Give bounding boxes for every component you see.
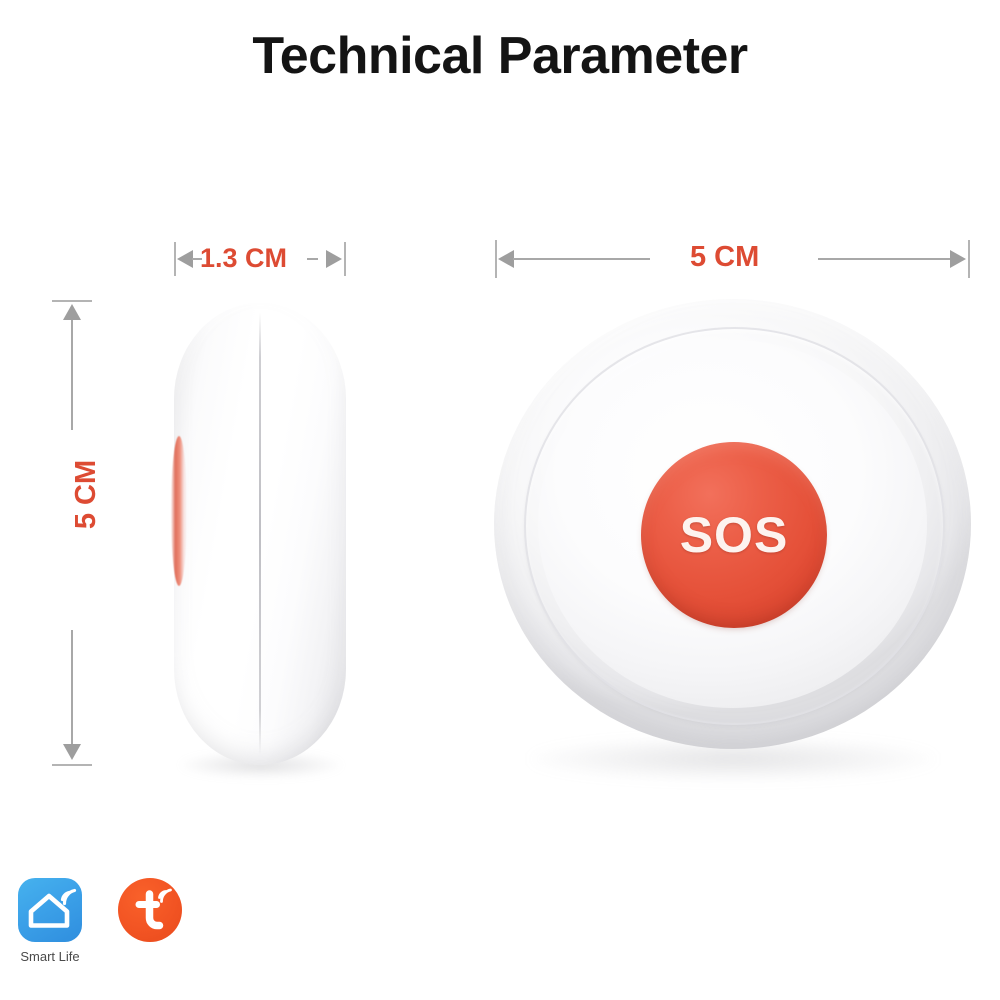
dimension-line-left — [513, 258, 650, 260]
sos-button-label: SOS — [680, 506, 789, 564]
app-logo-bar: Smart Life — [18, 878, 182, 964]
dimension-label-height: 5 CM — [70, 460, 103, 529]
dimension-arrow-up-icon — [63, 304, 81, 320]
dimension-line-right — [307, 258, 318, 260]
dimension-label-diameter: 5 CM — [690, 241, 759, 274]
dimension-tick-left — [495, 240, 497, 278]
sos-button-edge — [171, 436, 187, 586]
dimension-arrow-left-icon — [498, 250, 514, 268]
dimension-line-bottom — [71, 630, 73, 744]
sos-button[interactable]: SOS — [641, 442, 827, 628]
dimension-line-right — [818, 258, 950, 260]
smart-life-label: Smart Life — [20, 949, 79, 964]
tuya-app-icon[interactable] — [118, 878, 182, 942]
home-wifi-icon — [18, 878, 82, 942]
dimension-tick-right — [968, 240, 970, 278]
tuya-t-wifi-icon — [118, 878, 182, 942]
product-spec-diagram: Technical Parameter SOS 1.3 CM — [0, 0, 1000, 1000]
dimension-arrow-right-icon — [326, 250, 342, 268]
dimension-arrow-left-icon — [177, 250, 193, 268]
dimension-tick-left — [174, 242, 176, 276]
dimension-tick-bottom — [52, 764, 92, 766]
smart-life-app-icon[interactable] — [18, 878, 82, 942]
dimension-tick-right — [344, 242, 346, 276]
dimension-tick-top — [52, 300, 92, 302]
dimension-line-top — [71, 320, 73, 430]
tuya-logo-block — [118, 878, 182, 942]
page-title: Technical Parameter — [0, 26, 1000, 86]
device-seam-line — [259, 313, 261, 755]
dimension-arrow-down-icon — [63, 744, 81, 760]
dimension-label-side-width: 1.3 CM — [200, 243, 287, 274]
device-side-view — [174, 303, 346, 765]
dimension-arrow-right-icon — [950, 250, 966, 268]
smart-life-logo-block: Smart Life — [18, 878, 82, 964]
